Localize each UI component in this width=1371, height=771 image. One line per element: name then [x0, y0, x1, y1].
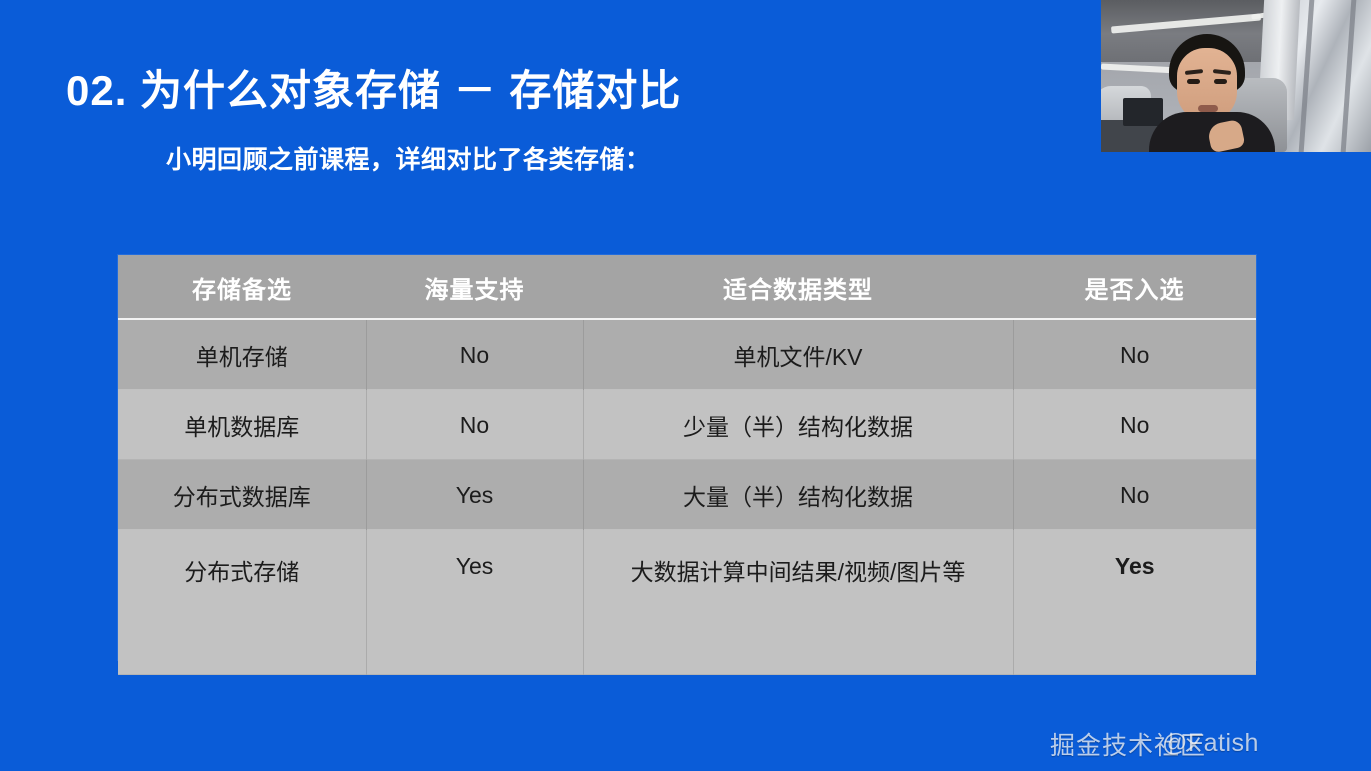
cell-storage: 分布式存储 [118, 530, 366, 675]
cell-selected: No [1013, 460, 1256, 530]
table-header-row: 存储备选 海量支持 适合数据类型 是否入选 [118, 255, 1256, 320]
slide-subtitle: 小明回顾之前课程，详细对比了各类存储： [166, 140, 651, 176]
presenter-eye [1187, 79, 1200, 84]
cell-massive-support: Yes [366, 530, 583, 675]
presenter-video-thumbnail[interactable] [1098, 0, 1371, 155]
watermark-site: 掘金技术社区 [1050, 726, 1206, 762]
cell-selected: No [1013, 320, 1256, 390]
table-row: 单机存储 No 单机文件/KV No [118, 320, 1256, 390]
cell-massive-support: No [366, 320, 583, 390]
watermark-user: @Fatish [1162, 729, 1259, 758]
cell-data-type: 单机文件/KV [583, 320, 1013, 390]
watermark: 掘金技术社区 @Fatish [1042, 723, 1362, 763]
cell-selected-highlighted: Yes [1013, 530, 1256, 675]
column-header-massive-support: 海量支持 [366, 255, 583, 320]
office-monitor [1123, 98, 1163, 126]
cell-data-type: 大量（半）结构化数据 [583, 460, 1013, 530]
table-row: 分布式数据库 Yes 大量（半）结构化数据 No [118, 460, 1256, 530]
column-header-selected: 是否入选 [1013, 255, 1256, 320]
cell-data-type: 大数据计算中间结果/视频/图片等 [583, 530, 1013, 675]
column-header-data-type: 适合数据类型 [583, 255, 1013, 320]
cell-massive-support: No [366, 390, 583, 460]
presenter-mouth [1198, 105, 1218, 112]
table-row: 分布式存储 Yes 大数据计算中间结果/视频/图片等 Yes [118, 530, 1256, 675]
cell-storage: 分布式数据库 [118, 460, 366, 530]
table-row: 单机数据库 No 少量（半）结构化数据 No [118, 390, 1256, 460]
page-title: 02. 为什么对象存储 － 存储对比 [66, 66, 681, 116]
column-header-storage: 存储备选 [118, 255, 366, 320]
cell-selected: No [1013, 390, 1256, 460]
cell-storage: 单机数据库 [118, 390, 366, 460]
storage-comparison-table: 存储备选 海量支持 适合数据类型 是否入选 单机存储 No 单机文件/KV No… [118, 255, 1256, 660]
cell-massive-support: Yes [366, 460, 583, 530]
presentation-slide: 02. 为什么对象存储 － 存储对比 小明回顾之前课程，详细对比了各类存储： 存… [0, 0, 1371, 771]
presenter-eye [1214, 79, 1227, 84]
cell-data-type: 少量（半）结构化数据 [583, 390, 1013, 460]
cell-storage: 单机存储 [118, 320, 366, 390]
